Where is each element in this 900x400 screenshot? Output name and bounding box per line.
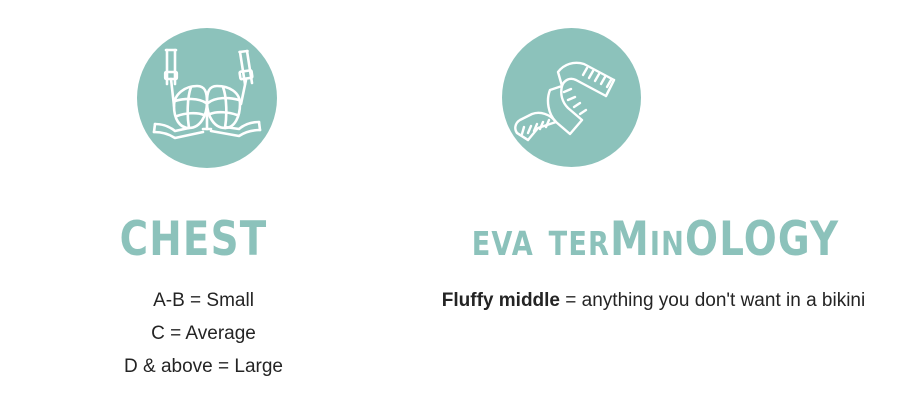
definition-meaning: anything you don't want in a bikini bbox=[582, 290, 866, 311]
chest-size-list: A-B = Small C = Average D & above = Larg… bbox=[0, 284, 407, 383]
list-item: C = Average bbox=[0, 317, 407, 350]
definition-separator: = bbox=[560, 290, 582, 311]
list-item: A-B = Small bbox=[0, 284, 407, 317]
measuring-tape-icon-badge bbox=[502, 28, 641, 167]
section-chest: CHEST A-B = Small C = Average D & above … bbox=[0, 0, 407, 400]
list-item: D & above = Large bbox=[0, 350, 407, 383]
heading-chest: CHEST bbox=[0, 216, 391, 263]
bra-icon-badge bbox=[137, 28, 277, 168]
section-eva-terminology: eva terMinOLOGY Fluffy middle = anything… bbox=[407, 0, 900, 400]
measuring-tape-icon bbox=[502, 28, 641, 167]
definition-term: Fluffy middle bbox=[442, 290, 560, 311]
infographic-root: CHEST A-B = Small C = Average D & above … bbox=[0, 0, 900, 400]
bra-icon bbox=[137, 28, 277, 168]
terminology-definition: Fluffy middle = anything you don't want … bbox=[407, 284, 900, 317]
heading-eva-terminology: eva terMinOLOGY bbox=[416, 216, 894, 263]
